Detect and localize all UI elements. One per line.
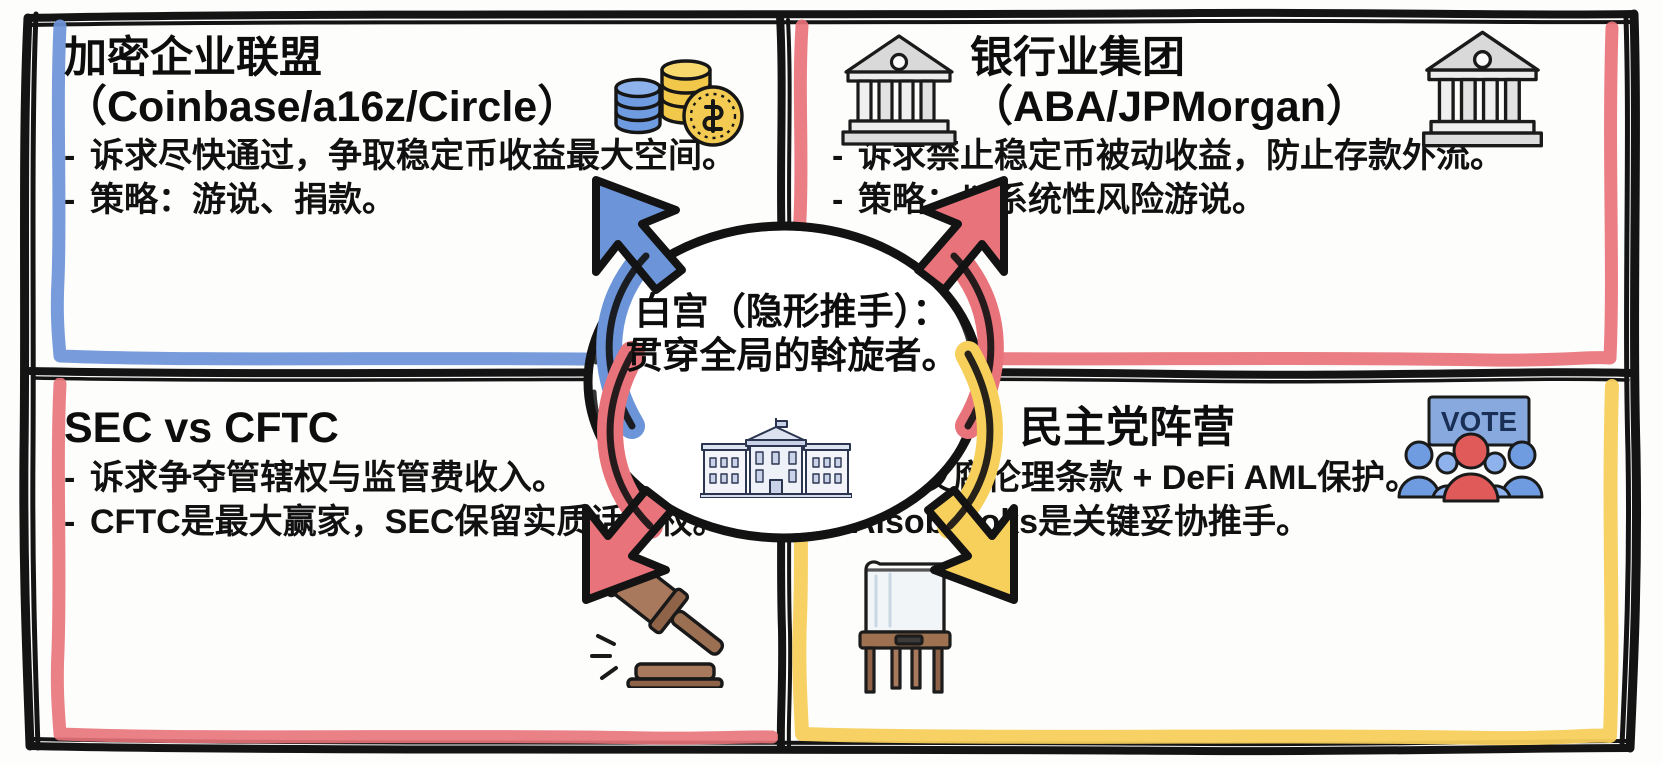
bank-building-icon <box>1420 26 1545 152</box>
white-house-icon <box>700 418 852 498</box>
vote-crowd-icon: VOTE <box>1395 393 1545 505</box>
bullet-dash: - <box>64 501 75 544</box>
bullet-text: 策略：游说、捐款。 <box>90 181 396 219</box>
vote-sign-label: VOTE <box>1441 406 1517 437</box>
diagram-canvas: 加密企业联盟 （Coinbase/a16z/Circle） -诉求尽快通过，争取… <box>0 0 1662 764</box>
ballot-box-icon <box>846 556 964 696</box>
center-hub-label: 白宫（隐形推手）： 贯穿全局的斡旋者。 <box>596 290 988 377</box>
coins-icon <box>600 32 750 154</box>
bullet-dash: - <box>64 135 75 178</box>
bullet-dash: - <box>64 457 75 500</box>
bullet-dash: - <box>64 179 75 222</box>
center-hub-circle[interactable] <box>568 212 1000 552</box>
gavel-icon <box>580 552 730 688</box>
bullet-text: 诉求争夺管辖权与监管费收入。 <box>90 459 566 497</box>
bank-building-icon <box>840 30 958 150</box>
